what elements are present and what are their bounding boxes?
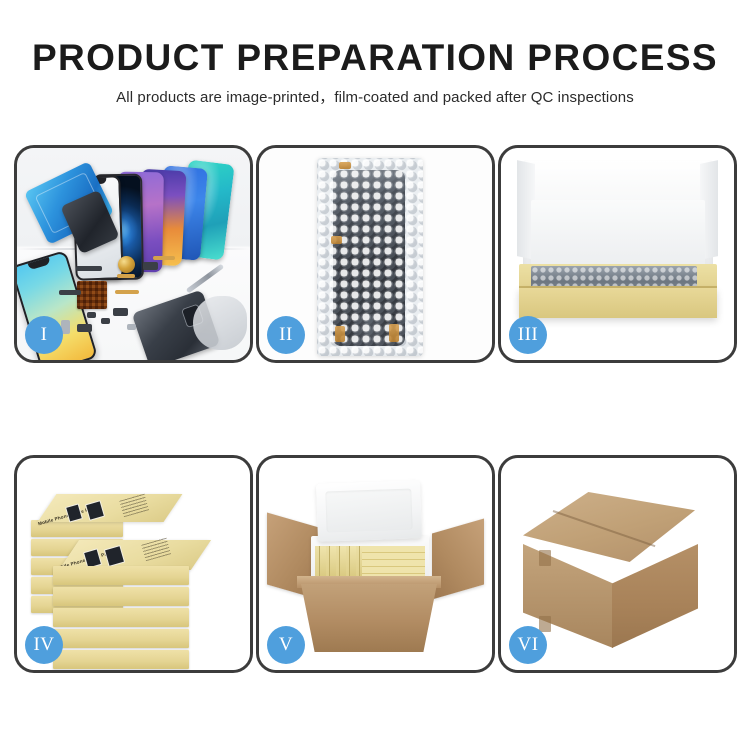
step-panel-2[interactable]: II [256, 145, 495, 363]
tape-icon [331, 236, 342, 244]
coil-part-icon [118, 256, 135, 273]
carton-tab-icon [539, 550, 551, 566]
box-front-icon [519, 288, 717, 318]
stacked-box [53, 650, 189, 669]
step-panel-1[interactable]: I [14, 145, 253, 363]
camera-part-icon [77, 324, 92, 332]
flex-cable-icon [153, 256, 175, 260]
connector-part-icon [113, 308, 128, 316]
flex-cable-icon [115, 290, 139, 294]
step-badge-1: I [25, 316, 63, 354]
step-badge-6: VI [509, 626, 547, 664]
stacked-box [53, 629, 189, 648]
step-panel-3[interactable]: III [498, 145, 737, 363]
part-strip-icon [76, 266, 102, 271]
product-preparation-infographic: PRODUCT PREPARATION PROCESS All products… [0, 0, 750, 750]
tape-icon [335, 326, 345, 342]
chip-part-icon [77, 281, 107, 309]
step-badge-2: II [267, 316, 305, 354]
flex-cable-icon [117, 274, 135, 278]
page-title: PRODUCT PREPARATION PROCESS [0, 36, 750, 80]
stacked-box [53, 566, 189, 585]
hand-icon [193, 296, 247, 350]
step-badge-5: V [267, 626, 305, 664]
step-badge-3: III [509, 316, 547, 354]
part-block-icon [143, 262, 158, 270]
screw-part-icon [87, 312, 96, 318]
carton-tab-icon [539, 616, 551, 632]
step-panel-6[interactable]: VI [498, 455, 737, 673]
tape-icon [339, 162, 351, 169]
stacked-box [53, 587, 189, 606]
foam-sheet-icon [531, 200, 705, 268]
foam-lid-icon [316, 480, 422, 542]
stacked-box [53, 608, 189, 627]
step-panel-4[interactable]: Mobile Phone Spare Parts Mobile Phone Sp… [14, 455, 253, 673]
screw-part-icon [101, 318, 110, 324]
step-panel-5[interactable]: V [256, 455, 495, 673]
header: PRODUCT PREPARATION PROCESS All products… [0, 36, 750, 108]
bubble-wrap-bag-icon [317, 158, 423, 356]
ribbon-part-icon [59, 290, 81, 295]
carton-front-icon [301, 584, 437, 652]
tape-icon [389, 324, 399, 342]
process-steps-grid: I II [14, 145, 736, 673]
small-part-icon [127, 324, 136, 330]
step-badge-4: IV [25, 626, 63, 664]
page-subtitle: All products are image-printed，film-coat… [0, 88, 750, 108]
